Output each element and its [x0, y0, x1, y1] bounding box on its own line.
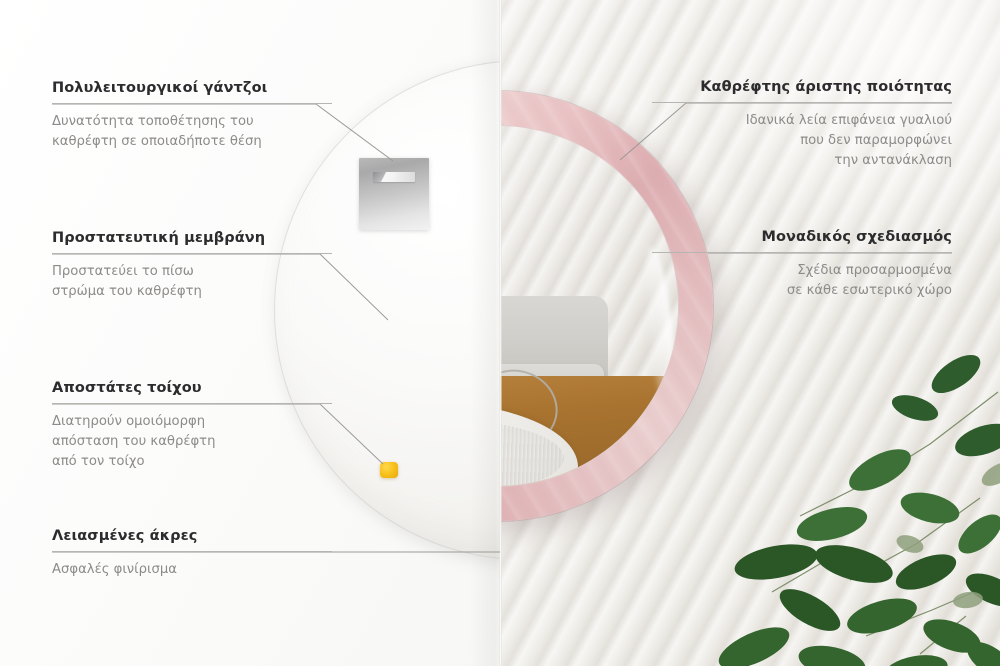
- callout-hooks-rule: [52, 103, 332, 104]
- callout-spacers-title: Αποστάτες τοίχου: [52, 380, 332, 396]
- callout-hooks-desc: Δυνατότητα τοποθέτησης τουκαθρέφτη σε οπ…: [52, 112, 332, 152]
- callout-edges-rule: [52, 551, 332, 552]
- callout-spacers-desc: Διατηρούν ομοιόμορφηαπόσταση του καθρέφτ…: [52, 412, 332, 471]
- callout-unique-design: Μοναδικός σχεδιασμός Σχέδια προσαρμοσμέν…: [652, 229, 952, 301]
- callout-unique-design-rule: [652, 252, 952, 253]
- infographic-canvas: Πολυλειτουργικοί γάντζοι Δυνατότητα τοπο…: [0, 0, 1000, 666]
- panel-split-shadow: [470, 0, 502, 666]
- callout-hooks: Πολυλειτουργικοί γάντζοι Δυνατότητα τοπο…: [52, 80, 332, 152]
- plant-decoration: [680, 348, 1000, 666]
- callout-unique-design-desc: Σχέδια προσαρμοσμένασε κάθε εσωτερικό χώ…: [652, 261, 952, 301]
- callout-edges-desc: Ασφαλές φινίρισμα: [52, 560, 332, 580]
- callout-unique-design-title: Μοναδικός σχεδιασμός: [652, 229, 952, 245]
- callout-quality-glass-title: Καθρέφτης άριστης ποιότητας: [652, 79, 952, 95]
- hanging-plate-icon: [359, 158, 429, 230]
- mirror-glass: [500, 126, 678, 486]
- callout-membrane-title: Προστατευτική μεμβράνη: [52, 230, 332, 246]
- yellow-spacer-icon: [380, 462, 398, 478]
- callout-membrane: Προστατευτική μεμβράνη Προστατεύει το πί…: [52, 230, 332, 302]
- callout-hooks-title: Πολυλειτουργικοί γάντζοι: [52, 80, 332, 96]
- callout-membrane-desc: Προστατεύει το πίσωστρώμα του καθρέφτη: [52, 262, 332, 302]
- hook-slot-icon: [373, 172, 415, 182]
- callout-membrane-rule: [52, 253, 332, 254]
- callout-quality-glass-desc: Ιδανικά λεία επιφάνεια γυαλιούπου δεν πα…: [652, 111, 952, 170]
- callout-edges-title: Λειασμένες άκρες: [52, 528, 332, 544]
- callout-quality-glass-rule: [652, 102, 952, 103]
- callout-quality-glass: Καθρέφτης άριστης ποιότητας Ιδανικά λεία…: [652, 79, 952, 170]
- callout-spacers: Αποστάτες τοίχου Διατηρούν ομοιόμορφηαπό…: [52, 380, 332, 471]
- panel-split-divider: [499, 0, 502, 666]
- callout-edges: Λειασμένες άκρες Ασφαλές φινίρισμα: [52, 528, 332, 580]
- callout-spacers-rule: [52, 403, 332, 404]
